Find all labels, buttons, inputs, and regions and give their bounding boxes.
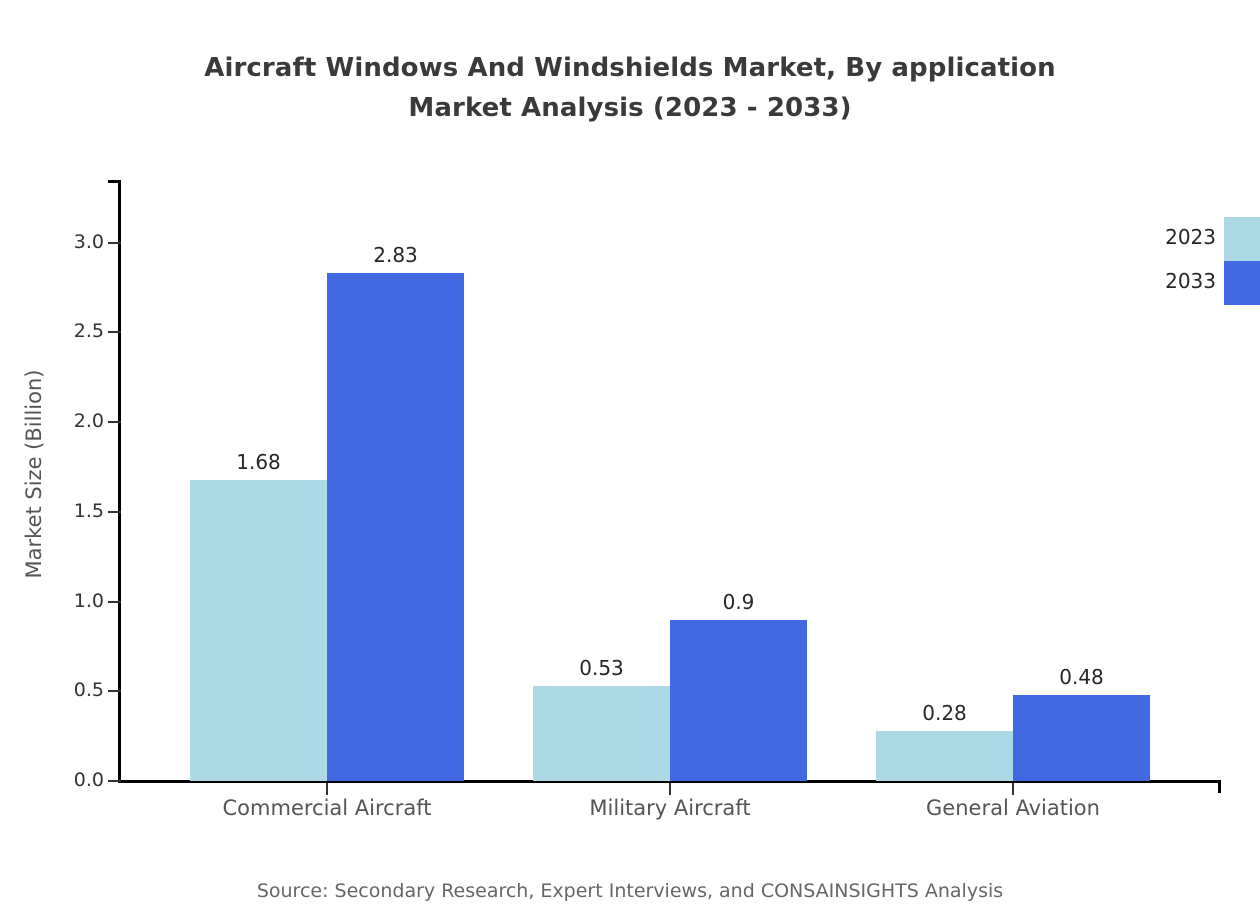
bar-value-label: 0.9 [659, 592, 819, 612]
x-axis-category-label: General Aviation [863, 795, 1163, 821]
source-note: Source: Secondary Research, Expert Inter… [0, 879, 1260, 903]
legend-color-swatch [1224, 261, 1260, 305]
bar-2023-general-aviation[interactable] [876, 731, 1013, 781]
bar-2023-military-aircraft[interactable] [533, 686, 670, 781]
legend-item-label: 2023 [1130, 227, 1216, 247]
bar-2023-commercial-aircraft[interactable] [190, 480, 327, 781]
legend-item-2023[interactable]: 2023 [1130, 215, 1260, 259]
bar-value-label: 2.83 [316, 245, 476, 265]
chart-title-line-2: Market Analysis (2023 - 2033) [0, 88, 1260, 128]
bar-value-label: 1.68 [179, 452, 339, 472]
bar-2033-commercial-aircraft[interactable] [327, 273, 464, 781]
chart-title-line-1: Aircraft Windows And Windshields Market,… [0, 48, 1260, 88]
bar-2033-military-aircraft[interactable] [670, 620, 807, 781]
legend-item-2033[interactable]: 2033 [1130, 259, 1260, 303]
x-axis-category-label: Commercial Aircraft [177, 795, 477, 821]
x-axis-tick [326, 783, 328, 795]
bar-value-label: 0.53 [522, 658, 682, 678]
bars-layer: 1.682.830.530.90.280.48 [0, 180, 1260, 782]
chart-legend[interactable]: 20232033 [1130, 215, 1260, 310]
x-axis-tick [1012, 783, 1014, 795]
legend-item-label: 2033 [1130, 271, 1216, 291]
bar-value-label: 0.48 [1002, 667, 1162, 687]
x-axis-tick [669, 783, 671, 795]
legend-color-swatch [1224, 217, 1260, 261]
x-axis-category-label: Military Aircraft [520, 795, 820, 821]
bar-chart-figure: Aircraft Windows And Windshields Market,… [0, 0, 1260, 920]
bar-2033-general-aviation[interactable] [1013, 695, 1150, 781]
chart-title: Aircraft Windows And Windshields Market,… [0, 48, 1260, 128]
bar-value-label: 0.28 [865, 703, 1025, 723]
